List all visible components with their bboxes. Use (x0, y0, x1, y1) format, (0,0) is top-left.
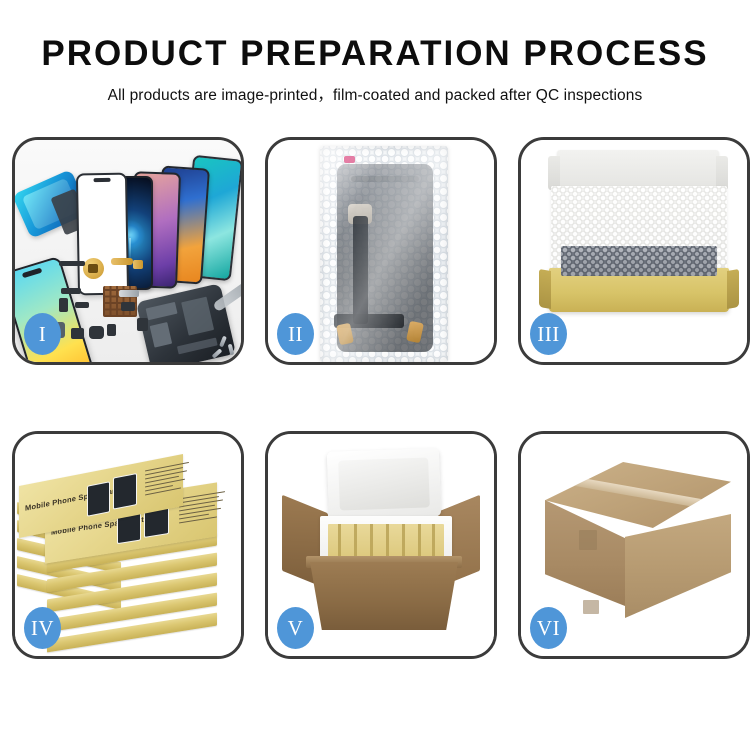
step-badge-1: I (24, 313, 61, 355)
process-step-2[interactable]: II (265, 137, 497, 365)
infographic-page: PRODUCT PREPARATION PROCESS All products… (0, 0, 750, 750)
part-connector-icon (61, 288, 81, 294)
foam-box-lid-icon (327, 448, 441, 520)
part-buzzer-icon (89, 326, 104, 339)
screen-protector-icon (76, 173, 129, 296)
carton-right-face (625, 514, 731, 618)
carton-tape-patch (579, 530, 597, 550)
part-gold-flex-icon (111, 258, 133, 265)
process-step-4[interactable]: Mobile Phone Spare Parts Mobile Phone Sp… (12, 431, 244, 659)
process-step-6[interactable]: VI (518, 431, 750, 659)
part-small-icon (121, 302, 135, 311)
carton-tape-patch (583, 600, 599, 614)
step-badge-3: III (530, 313, 567, 355)
notch-icon (93, 178, 110, 182)
step-badge-4: IV (24, 607, 61, 649)
tray-left-edge (539, 269, 551, 309)
pink-label-icon (344, 156, 355, 163)
part-small-icon (59, 298, 68, 312)
speaker-module-icon (83, 258, 104, 279)
part-small-icon (107, 324, 116, 336)
part-small-icon (75, 302, 89, 308)
process-step-5[interactable]: V (265, 431, 497, 659)
part-small-icon (137, 318, 148, 331)
box-spec-text (179, 491, 227, 526)
box-screen-photo (113, 473, 137, 510)
step-badge-5: V (277, 607, 314, 649)
carton-body (310, 562, 458, 630)
step-badge-6: VI (530, 607, 567, 649)
yellow-box-tray-icon (549, 268, 729, 312)
part-bracket-icon (119, 290, 139, 297)
part-small-icon (71, 328, 84, 339)
part-gold-tab-icon (133, 260, 143, 269)
header: PRODUCT PREPARATION PROCESS All products… (0, 0, 750, 105)
process-step-1[interactable]: I (12, 137, 244, 365)
bubble-wrap-fill-icon (561, 246, 717, 276)
page-title: PRODUCT PREPARATION PROCESS (0, 36, 750, 71)
box-screen-photo (87, 481, 110, 516)
process-step-grid: I II (12, 137, 738, 659)
process-step-3[interactable]: III (518, 137, 750, 365)
part-strip-icon (59, 261, 85, 266)
page-subtitle: All products are image-printed，film-coat… (0, 83, 750, 105)
bag-sheen (320, 146, 448, 362)
step-badge-2: II (277, 313, 314, 355)
notch-icon (22, 268, 43, 279)
bubble-wrap-bag-icon (320, 146, 448, 362)
tray-right-edge (727, 269, 739, 309)
